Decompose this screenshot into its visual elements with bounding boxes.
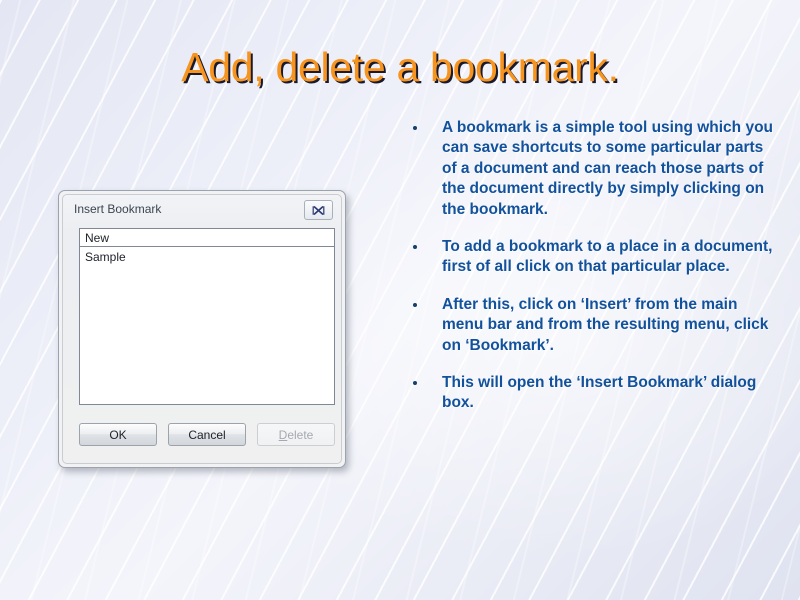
dialog-title: Insert Bookmark [74, 202, 161, 216]
bullet-item: To add a bookmark to a place in a docume… [404, 237, 776, 278]
bullet-item: After this, click on ‘Insert’ from the m… [404, 295, 776, 356]
bullet-dot-icon [413, 381, 417, 385]
delete-button-rest: elete [287, 428, 313, 442]
list-item[interactable]: Sample [80, 247, 334, 265]
bullet-dot-icon [413, 126, 417, 130]
bullet-text: After this, click on ‘Insert’ from the m… [442, 296, 768, 354]
dialog-titlebar[interactable]: Insert Bookmark [63, 195, 341, 225]
delete-button: Delete [257, 423, 335, 446]
bullet-dot-icon [413, 303, 417, 307]
insert-bookmark-dialog: Insert Bookmark New Sample OK Cancel Del… [58, 190, 346, 468]
ok-button[interactable]: OK [79, 423, 157, 446]
cancel-button[interactable]: Cancel [168, 423, 246, 446]
bullet-text: This will open the ‘Insert Bookmark’ dia… [442, 374, 756, 411]
presentation-slide: Add, delete a bookmark. A bookmark is a … [0, 0, 800, 600]
slide-title: Add, delete a bookmark. [0, 44, 800, 91]
bookmark-listbox[interactable]: Sample [79, 247, 335, 405]
bullet-text: A bookmark is a simple tool using which … [442, 119, 773, 218]
background-swoosh-curve [0, 470, 800, 600]
bullet-dot-icon [413, 245, 417, 249]
bullet-list: A bookmark is a simple tool using which … [404, 118, 776, 414]
close-x-icon[interactable] [304, 200, 333, 220]
bullet-item: A bookmark is a simple tool using which … [404, 118, 776, 220]
bullet-text: To add a bookmark to a place in a docume… [442, 238, 772, 275]
dialog-inner-frame: Insert Bookmark New Sample OK Cancel Del… [62, 194, 342, 464]
dialog-button-row: OK Cancel Delete [79, 423, 335, 446]
delete-button-accel: D [279, 428, 288, 442]
bookmark-name-input[interactable]: New [79, 228, 335, 247]
bullet-item: This will open the ‘Insert Bookmark’ dia… [404, 373, 776, 414]
